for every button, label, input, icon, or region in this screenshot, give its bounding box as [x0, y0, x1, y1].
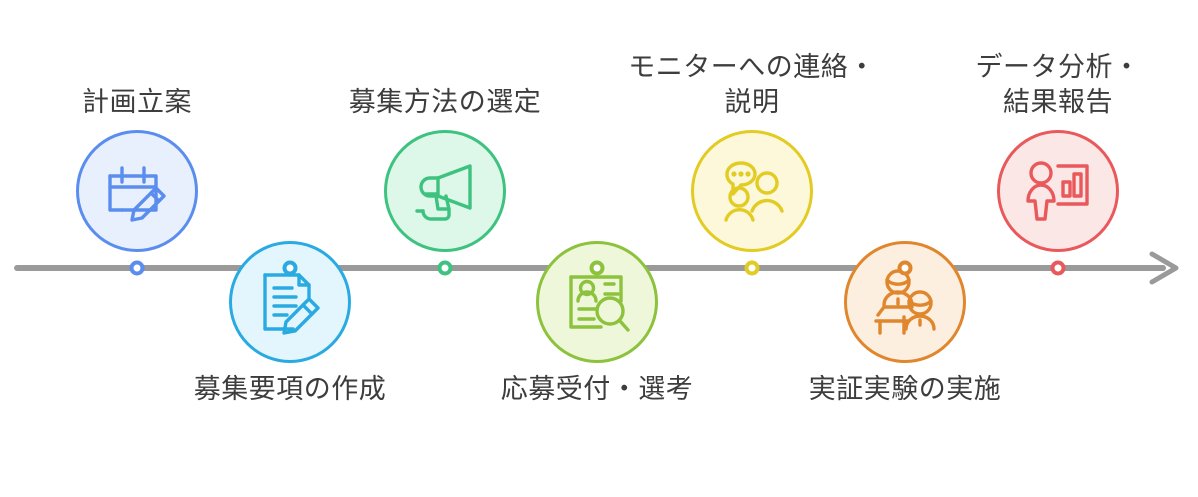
timeline-step-7[interactable]: データ分析・ 結果報告: [908, 50, 1198, 252]
timeline-diagram: 計画立案募集要項の作成募集方法の選定応募受付・選考モニターへの連絡・ 説明実証実…: [0, 0, 1198, 497]
timeline-step-5[interactable]: モニターへの連絡・ 説明: [602, 50, 902, 252]
timeline-dot-2[interactable]: [283, 261, 298, 276]
timeline-step-label: 応募受付・選考: [447, 372, 747, 408]
document-pencil-icon[interactable]: [229, 241, 351, 363]
timeline-dot-5[interactable]: [745, 261, 760, 276]
resume-search-icon[interactable]: [536, 241, 658, 363]
megaphone-icon[interactable]: [384, 130, 506, 252]
calendar-pencil-icon[interactable]: [76, 130, 198, 252]
timeline-dot-4[interactable]: [590, 261, 605, 276]
timeline-dot-6[interactable]: [898, 261, 913, 276]
timeline-step-1[interactable]: 計画立案: [0, 85, 287, 252]
presenter-chart-icon[interactable]: [997, 130, 1119, 252]
people-speech-bubble-icon[interactable]: [691, 130, 813, 252]
timeline-step-label: データ分析・ 結果報告: [908, 50, 1198, 121]
timeline-step-label: 募集方法の選定: [295, 85, 595, 121]
timeline-step-3[interactable]: 募集方法の選定: [295, 85, 595, 252]
timeline-arrow-icon: [1146, 247, 1186, 289]
timeline-dot-7[interactable]: [1051, 261, 1066, 276]
timeline-dot-3[interactable]: [438, 261, 453, 276]
timeline-step-label: モニターへの連絡・ 説明: [602, 50, 902, 121]
timeline-step-label: 実証実験の実施: [755, 372, 1055, 408]
timeline-dot-1[interactable]: [130, 261, 145, 276]
workbench-people-icon[interactable]: [844, 241, 966, 363]
timeline-step-label: 募集要項の作成: [140, 372, 440, 408]
timeline-step-label: 計画立案: [0, 85, 287, 121]
